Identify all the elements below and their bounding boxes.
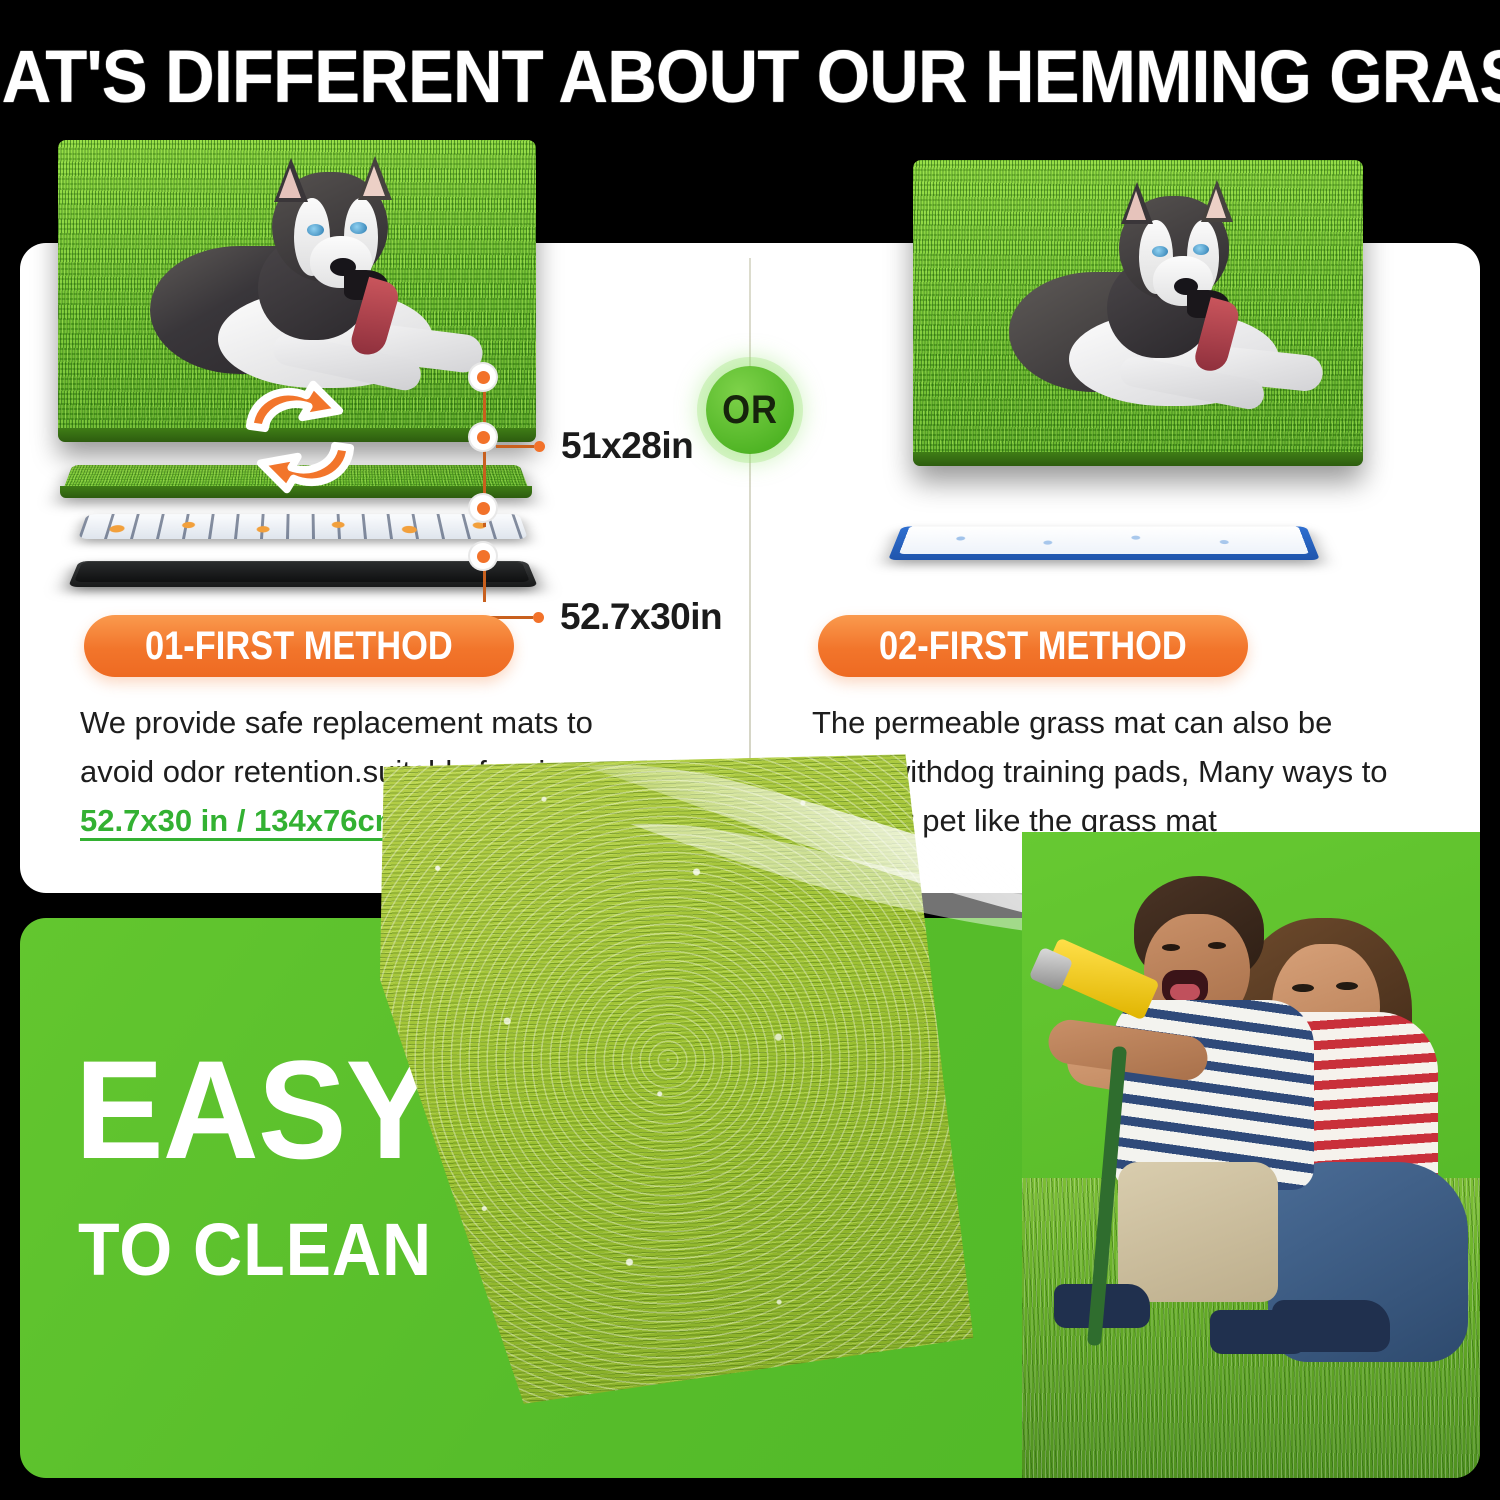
- callout-endpoint-dot-2: [533, 612, 544, 623]
- left-body-highlight: 52.7x30 in / 134x76cm: [80, 803, 402, 841]
- badge-label-02: 02-FIRST METHOD: [879, 624, 1187, 669]
- page-title-text: WHAT'S DIFFERENT ABOUT OUR HEMMING GRASS…: [0, 34, 1500, 119]
- to-clean-subhead: TO CLEAN: [78, 1213, 432, 1287]
- child-shoe-right: [1210, 1310, 1306, 1354]
- page-title: WHAT'S DIFFERENT ABOUT OUR HEMMING GRASS…: [0, 28, 1500, 124]
- training-pad-surface: [899, 526, 1309, 554]
- recycle-arrows-icon: [234, 378, 366, 496]
- or-badge: OR: [706, 366, 794, 454]
- infographic-root: WHAT'S DIFFERENT ABOUT OUR HEMMING GRASS…: [0, 0, 1500, 1500]
- callout-endpoint-dot: [534, 441, 545, 452]
- callout-label: 51x28in: [561, 425, 693, 467]
- wet-grass-mat-photo: [360, 707, 975, 1413]
- patterned-absorbent-pad: [78, 514, 528, 539]
- grass-surface-right: [913, 160, 1363, 466]
- callout-dot-mat: [470, 424, 496, 450]
- badge-label-01: 01-FIRST METHOD: [145, 624, 453, 669]
- callout-dot-tray: [470, 543, 496, 569]
- callout-dot-top: [470, 364, 496, 390]
- child-shorts: [1118, 1162, 1278, 1302]
- wet-mat-surface: [360, 707, 975, 1413]
- callout-dot-pad: [470, 495, 496, 521]
- mother-and-child-with-hose-photo: [1022, 832, 1480, 1478]
- or-badge-label: OR: [722, 388, 778, 433]
- callout-51x28in: 51x28in: [496, 425, 693, 467]
- badge-first-method-02[interactable]: 02-FIRST METHOD: [818, 615, 1248, 677]
- callout-label-2: 52.7x30in: [560, 596, 722, 638]
- right-grass-mat-with-husky: [913, 160, 1363, 466]
- tray-inner: [74, 562, 530, 582]
- easy-headline: EASY: [75, 1050, 433, 1170]
- callout-52-7x30in: 52.7x30in: [483, 596, 722, 638]
- badge-first-method-01[interactable]: 01-FIRST METHOD: [84, 615, 514, 677]
